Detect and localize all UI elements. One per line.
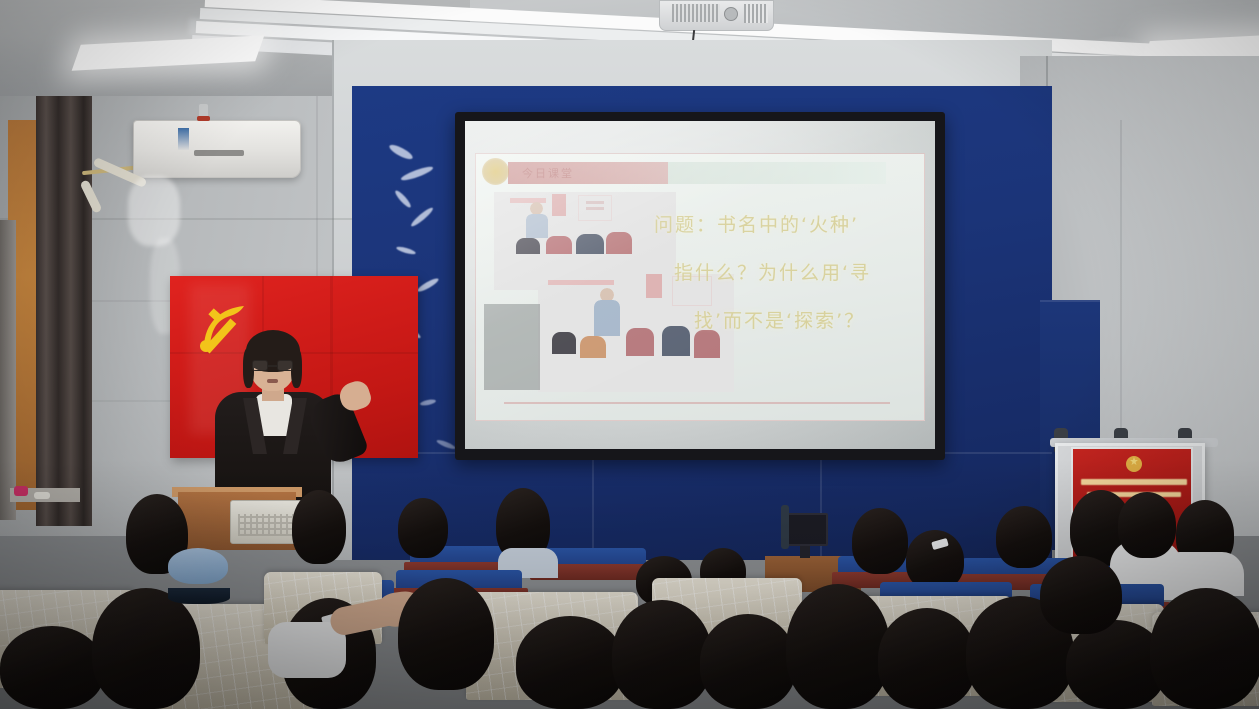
audience-head-front-12 bbox=[1150, 588, 1259, 709]
blue-panel-seam-v1 bbox=[592, 452, 594, 560]
podium-equipment-grille bbox=[238, 514, 294, 536]
audience-head-front-7 bbox=[700, 614, 796, 709]
monitor-arm bbox=[781, 505, 789, 549]
audience-head-front-6 bbox=[612, 600, 712, 709]
national-emblem-icon bbox=[1123, 454, 1145, 474]
slide-question-line-3: 找’而不是‘探索’？ bbox=[694, 306, 865, 333]
audience-head-far-9 bbox=[996, 506, 1052, 568]
sprinkler-above-ac-icon bbox=[199, 104, 208, 120]
classroom-scene: 今日课堂 bbox=[0, 0, 1259, 709]
wall-stain-1 bbox=[128, 176, 180, 246]
slide-dark-patch bbox=[484, 304, 540, 390]
audience-head-far-3 bbox=[398, 498, 448, 558]
projector-grille bbox=[744, 4, 768, 23]
audience-head-front-2 bbox=[92, 588, 200, 709]
audience-head-front-1 bbox=[0, 626, 104, 709]
ac-badge bbox=[178, 128, 189, 150]
slide-question-line-1: 问题：书名中的‘火种’ bbox=[654, 210, 859, 237]
audience-head-far-1 bbox=[292, 490, 346, 564]
audience-head-white-shirt bbox=[1118, 492, 1176, 558]
slide-photo-bottom bbox=[538, 274, 734, 392]
audience-head-front-4 bbox=[398, 578, 494, 690]
slide-bottom-rule bbox=[504, 402, 890, 404]
audience-head-far-7 bbox=[852, 508, 908, 574]
slide-title-bar-tail bbox=[668, 162, 886, 184]
audience-head-far-8 bbox=[906, 530, 964, 590]
audience-head-front-13 bbox=[1040, 556, 1122, 634]
desk-monitor-stand bbox=[800, 546, 810, 558]
projector-vent bbox=[672, 4, 720, 22]
presenter-mouth bbox=[267, 379, 278, 383]
presentation-slide: 今日课堂 bbox=[475, 153, 925, 421]
blue-panel-seam-right bbox=[1040, 300, 1100, 302]
slide-emblem-icon bbox=[482, 158, 509, 185]
sill-object-white bbox=[34, 492, 50, 499]
presenter-glasses-icon bbox=[252, 360, 293, 371]
projector-lens bbox=[724, 7, 738, 21]
cap-brim bbox=[168, 588, 230, 604]
slide-title-text: 今日课堂 bbox=[522, 165, 574, 181]
ac-vent bbox=[194, 150, 244, 156]
audience-head-front-9 bbox=[878, 608, 976, 709]
audience-head-front-8 bbox=[786, 584, 890, 709]
projection-screen: 今日课堂 bbox=[465, 121, 935, 449]
slide-question-line-2: 指什么？为什么用‘寻 bbox=[674, 258, 871, 285]
air-conditioner bbox=[133, 120, 301, 178]
audience-head-front-5 bbox=[516, 616, 624, 709]
window-curtain bbox=[36, 96, 92, 526]
door-frame[interactable] bbox=[0, 220, 16, 520]
sill-object-pink bbox=[14, 486, 28, 496]
baseball-cap bbox=[168, 548, 228, 584]
